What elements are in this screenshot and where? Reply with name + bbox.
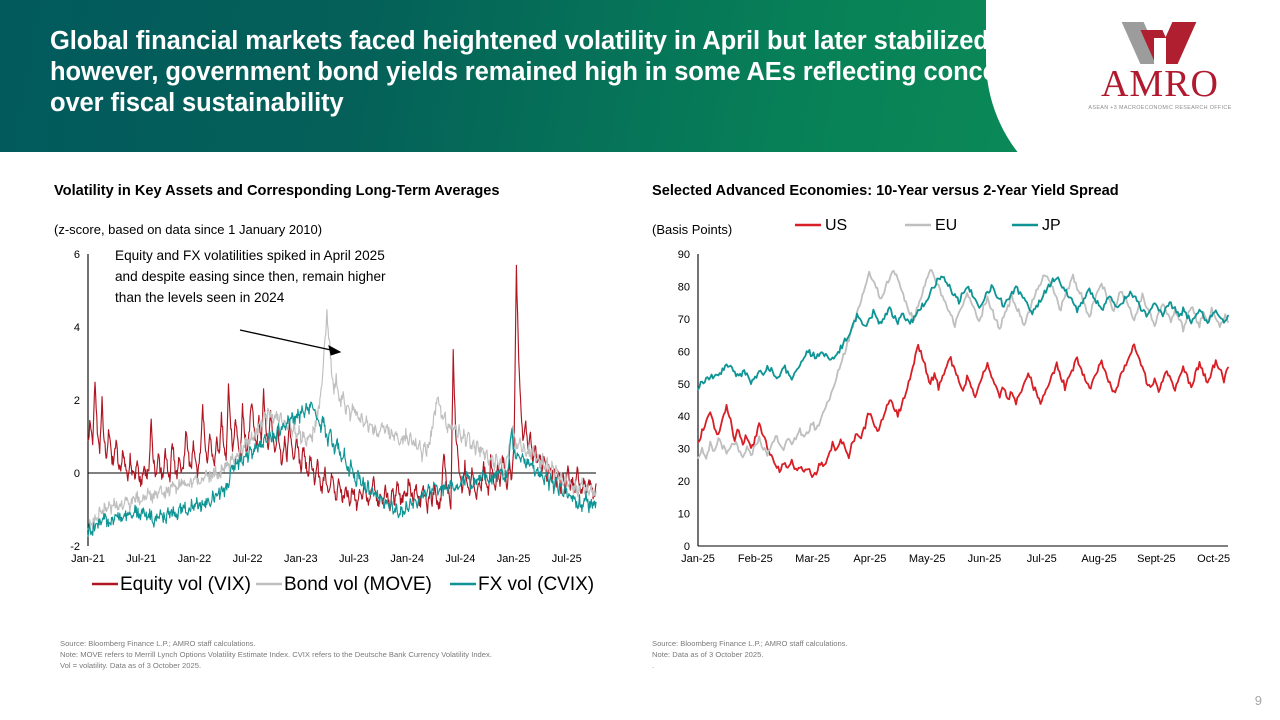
svg-text:Sept-25: Sept-25 [1137, 553, 1176, 565]
svg-text:90: 90 [678, 249, 690, 261]
svg-text:May-25: May-25 [909, 553, 946, 565]
svg-text:Equity and FX volatilities spi: Equity and FX volatilities spiked in Apr… [115, 248, 385, 263]
legend-label: EU [935, 217, 957, 234]
amro-logo: AMRO ASEAN +3 MACROECONOMIC RESEARCH OFF… [1074, 22, 1246, 130]
svg-text:Jul-21: Jul-21 [126, 553, 156, 565]
svg-text:Jul-23: Jul-23 [339, 553, 369, 565]
left-chart-panel: Volatility in Key Assets and Correspondi… [0, 152, 640, 720]
svg-text:0: 0 [684, 541, 690, 553]
left-chart-subtitle: (z-score, based on data since 1 January … [54, 222, 322, 238]
right-chart-title: Selected Advanced Economies: 10-Year ver… [652, 182, 1212, 201]
left-footnote-line-3: Vol = volatility. Data as of 3 October 2… [60, 660, 620, 671]
svg-text:than the levels seen in 2024: than the levels seen in 2024 [115, 290, 285, 305]
svg-text:4: 4 [74, 322, 80, 334]
svg-text:and despite easing since then,: and despite easing since then, remain hi… [115, 269, 386, 284]
left-footnote-line-2: Note: MOVE refers to Merrill Lynch Optio… [60, 649, 620, 660]
svg-text:70: 70 [678, 314, 690, 326]
svg-text:Jul-25: Jul-25 [552, 553, 582, 565]
amro-logo-mark-icon [1115, 22, 1205, 64]
page-number: 9 [1255, 693, 1262, 708]
legend-label: JP [1042, 217, 1061, 234]
left-chart-title: Volatility in Key Assets and Correspondi… [54, 182, 614, 201]
legend-label: FX vol (CVIX) [478, 574, 594, 595]
right-chart-subtitle: (Basis Points) [652, 222, 732, 238]
svg-text:Apr-25: Apr-25 [853, 553, 886, 565]
svg-text:Jan-22: Jan-22 [178, 553, 212, 565]
right-footnote-line-1: Source: Bloomberg Finance L.P.; AMRO sta… [652, 638, 1112, 649]
svg-text:60: 60 [678, 346, 690, 358]
svg-text:6: 6 [74, 249, 80, 261]
svg-text:30: 30 [678, 444, 690, 456]
svg-text:Jul-22: Jul-22 [233, 553, 263, 565]
svg-text:Aug-25: Aug-25 [1081, 553, 1116, 565]
svg-text:80: 80 [678, 281, 690, 293]
svg-text:20: 20 [678, 476, 690, 488]
svg-text:Mar-25: Mar-25 [795, 553, 830, 565]
left-chart-plot: -20246Jan-21Jul-21Jan-22Jul-22Jan-23Jul-… [0, 246, 640, 636]
svg-text:40: 40 [678, 411, 690, 423]
svg-text:2: 2 [74, 395, 80, 407]
page-title: Global financial markets faced heightene… [50, 26, 1050, 119]
amro-logo-wordmark: AMRO [1074, 65, 1246, 103]
right-footnote-line-3: . [652, 660, 1112, 671]
svg-text:Jan-25: Jan-25 [497, 553, 531, 565]
svg-text:Oct-25: Oct-25 [1197, 553, 1230, 565]
svg-text:0: 0 [74, 468, 80, 480]
svg-text:Jan-25: Jan-25 [681, 553, 715, 565]
svg-text:Feb-25: Feb-25 [738, 553, 773, 565]
right-chart-plot: 0102030405060708090Jan-25Feb-25Mar-25Apr… [640, 246, 1280, 636]
left-chart-annotation: Equity and FX volatilities spiked in Apr… [115, 248, 386, 305]
left-footnote-line-1: Source: Bloomberg Finance L.P.; AMRO sta… [60, 638, 620, 649]
legend-label: Bond vol (MOVE) [284, 574, 432, 595]
svg-text:-2: -2 [70, 541, 80, 553]
svg-text:50: 50 [678, 379, 690, 391]
svg-text:Jul-25: Jul-25 [1027, 553, 1057, 565]
left-chart-footnote: Source: Bloomberg Finance L.P.; AMRO sta… [60, 638, 620, 671]
svg-text:Jan-21: Jan-21 [71, 553, 105, 565]
svg-text:Jan-23: Jan-23 [284, 553, 318, 565]
svg-text:Jun-25: Jun-25 [968, 553, 1002, 565]
svg-text:Jan-24: Jan-24 [390, 553, 424, 565]
amro-logo-tagline: ASEAN +3 MACROECONOMIC RESEARCH OFFICE [1074, 105, 1246, 111]
legend-label: Equity vol (VIX) [120, 574, 251, 595]
legend-label: US [825, 217, 847, 234]
right-footnote-line-2: Note: Data as of 3 October 2025. [652, 649, 1112, 660]
svg-text:10: 10 [678, 509, 690, 521]
svg-text:Jul-24: Jul-24 [445, 553, 475, 565]
right-chart-panel: Selected Advanced Economies: 10-Year ver… [640, 152, 1280, 720]
slide-header: Global financial markets faced heightene… [0, 0, 1280, 152]
right-chart-footnote: Source: Bloomberg Finance L.P.; AMRO sta… [652, 638, 1112, 671]
